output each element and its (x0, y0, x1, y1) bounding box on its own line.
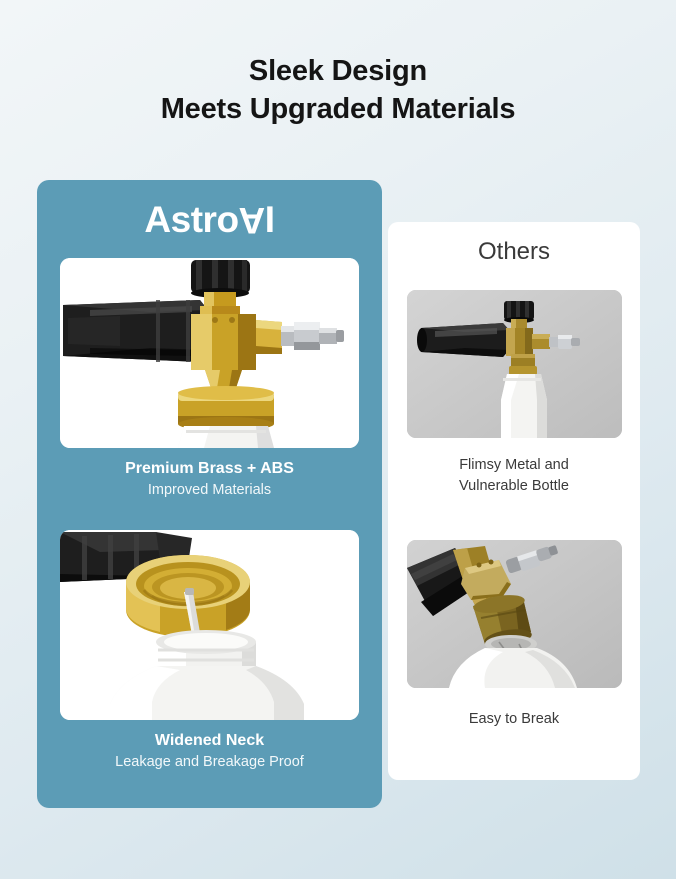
others-heading: Others (388, 236, 640, 268)
astroai-logo: AstroAI (37, 196, 382, 244)
others-caption-line-2: Vulnerable Bottle (388, 476, 640, 497)
caption-main-text: Widened Neck (37, 730, 382, 752)
competitor-foam-cannon-photo (407, 290, 622, 438)
foam-cannon-brass-illustration (60, 258, 359, 448)
page-title-line-2: Meets Upgraded Materials (0, 90, 676, 128)
caption-flimsy-metal: Flimsy Metal and Vulnerable Bottle (388, 455, 640, 497)
caption-sub-text: Improved Materials (37, 480, 382, 501)
widened-neck-bottle-cap-photo (60, 530, 359, 720)
logo-flipped-a-glyph: A (239, 196, 265, 244)
astroai-brand-panel: AstroAI (37, 180, 382, 808)
others-comparison-panel: Others (388, 222, 640, 780)
caption-widened-neck: Widened Neck Leakage and Breakage Proof (37, 730, 382, 773)
page-title-line-1: Sleek Design (0, 52, 676, 90)
others-caption-line-1: Flimsy Metal and (388, 455, 640, 476)
competitor-broken-neck-photo (407, 540, 622, 688)
caption-main-text: Premium Brass + ABS (37, 458, 382, 480)
caption-sub-text: Leakage and Breakage Proof (37, 752, 382, 773)
competitor-broken-neck-illustration (407, 540, 622, 688)
logo-text-prefix: Astro (144, 199, 238, 240)
foam-cannon-brass-assembly-photo (60, 258, 359, 448)
page-title: Sleek Design Meets Upgraded Materials (0, 52, 676, 128)
caption-premium-brass: Premium Brass + ABS Improved Materials (37, 458, 382, 501)
caption-easy-to-break: Easy to Break (388, 709, 640, 730)
logo-text-suffix: I (265, 199, 275, 240)
others-caption-line-1: Easy to Break (388, 709, 640, 730)
widened-neck-illustration (60, 530, 359, 720)
competitor-foam-cannon-illustration (407, 290, 622, 438)
